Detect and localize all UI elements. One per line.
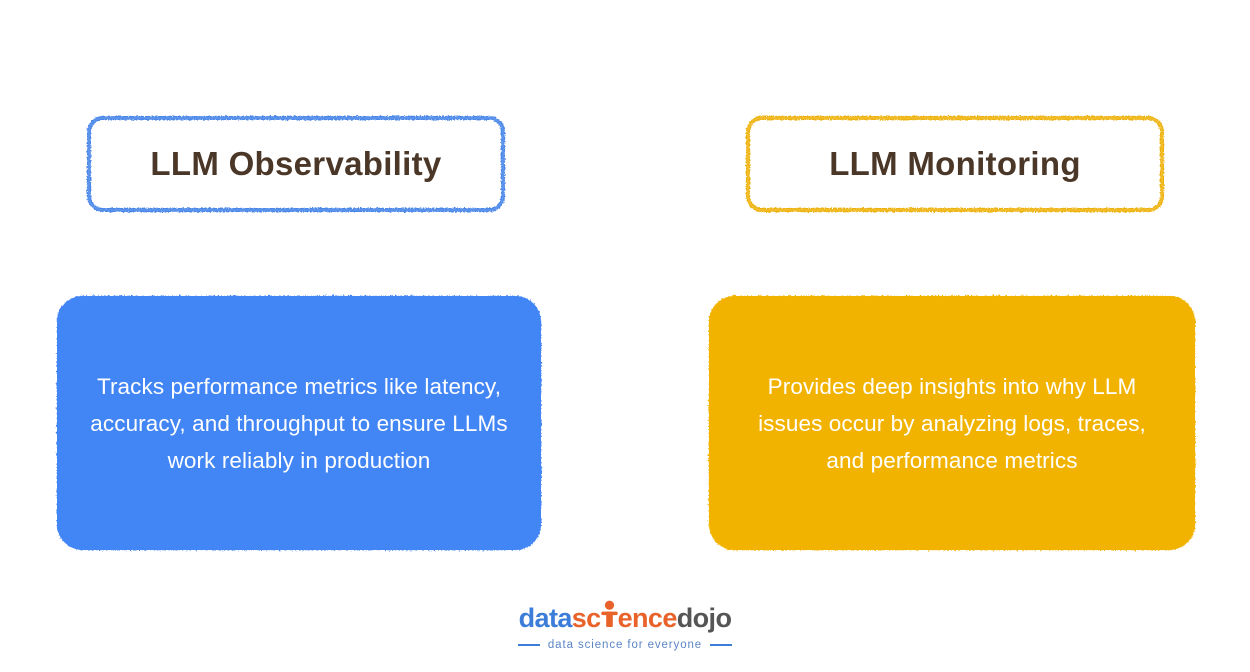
tagline-dash-left-icon [518, 644, 540, 646]
person-figure-icon [601, 600, 618, 627]
logo-text-ence: ence [618, 605, 677, 632]
logo-text-sc: sc [572, 605, 601, 632]
logo-wordmark: datasc encedojo [519, 600, 732, 632]
logo-tagline-row: data science for everyone [518, 639, 732, 651]
content-card-observability: Tracks performance metrics like latency,… [57, 296, 541, 550]
header-label-observability: LLM Observability [150, 146, 441, 182]
card-text-observability: Tracks performance metrics like latency,… [87, 368, 511, 479]
header-box-observability: LLM Observability [89, 118, 503, 210]
card-text-monitoring: Provides deep insights into why LLM issu… [739, 368, 1165, 479]
content-card-monitoring: Provides deep insights into why LLM issu… [709, 296, 1195, 550]
logo-text-dojo: dojo [677, 605, 732, 632]
tagline-dash-right-icon [710, 644, 732, 646]
header-label-monitoring: LLM Monitoring [829, 146, 1081, 182]
logo-text-data: data [519, 605, 572, 632]
diagram-canvas: LLM Observability LLM Monitoring [0, 0, 1250, 672]
footer-logo: datasc encedojo data science for everyon… [0, 600, 1250, 651]
header-box-monitoring: LLM Monitoring [748, 118, 1162, 210]
logo-tagline: data science for everyone [548, 639, 702, 651]
